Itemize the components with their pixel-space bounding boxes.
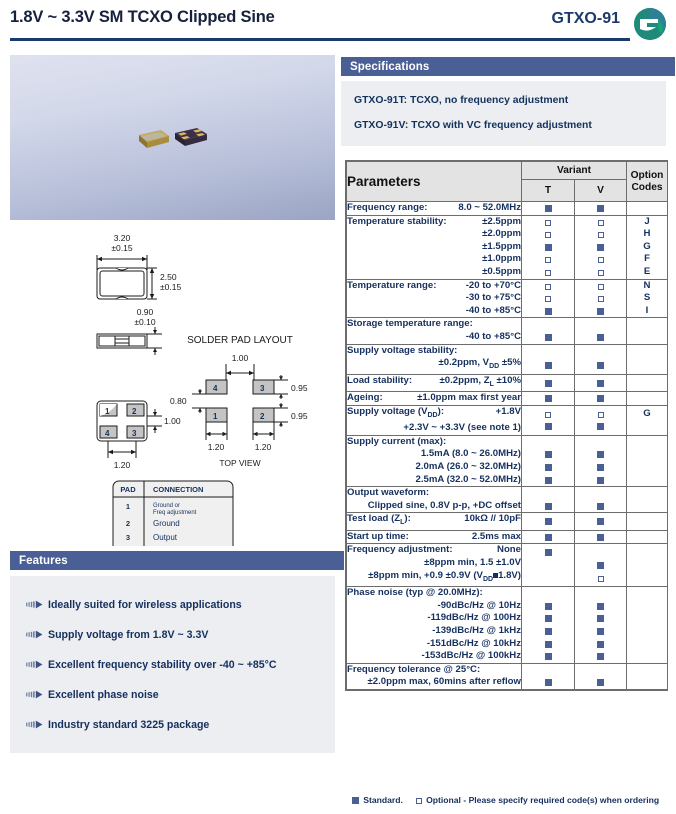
param-label: Frequency adjustment: — [347, 544, 453, 557]
marker-v-open — [598, 257, 604, 263]
marker-t-filled — [545, 464, 552, 471]
param-cell: Temperature stability:±2.5ppm±2.0ppm±1.5… — [347, 215, 522, 279]
solder-pin-1: 1 — [213, 412, 218, 421]
option-code — [627, 202, 667, 215]
param-label: Frequency tolerance @ 25°C: — [347, 664, 521, 677]
marker-v-filled — [597, 653, 604, 660]
param-cell: Storage temperature range:-40 to +85°C — [347, 318, 522, 344]
variant-v-cell — [575, 279, 627, 318]
option-code — [627, 377, 667, 390]
variant-v-marker — [575, 408, 626, 421]
param-cell: Supply voltage stability:±0.2ppm, VDD ±5… — [347, 344, 522, 374]
marker-v-filled — [597, 380, 604, 387]
variant-v-cell — [575, 530, 627, 544]
variant-v-cell — [575, 318, 627, 344]
marker-v-open — [598, 232, 604, 238]
table-row: Frequency adjustment:None±8ppm min, 1.5 … — [347, 544, 668, 587]
option-code-cell: NSI — [627, 279, 668, 318]
variant-v-marker — [575, 266, 626, 279]
solder-span-left-label: 1.20 — [208, 442, 225, 452]
variant-t-cell — [522, 344, 575, 374]
variant-t-cell — [522, 279, 575, 318]
pad-row-conn-3: Output — [153, 533, 178, 542]
pad-table-header-connection: CONNECTION — [153, 485, 203, 494]
variant-v-marker — [575, 420, 626, 433]
solder-pad-w-label: 0.80 — [170, 396, 187, 406]
marker-v-open — [598, 270, 604, 276]
param-cell: Output waveform:Clipped sine, 0.8V p-p, … — [347, 487, 522, 513]
variant-v-cell — [575, 215, 627, 279]
marker-t-open — [545, 412, 551, 418]
option-code-cell: JHGFE — [627, 215, 668, 279]
param-cell: Frequency range:8.0 ~ 52.0MHz — [347, 202, 522, 216]
legend-standard-text: Standard. — [363, 795, 403, 805]
variant-v-cell — [575, 392, 627, 406]
variant-v-marker — [575, 216, 626, 229]
feature-text: Excellent frequency stability over -40 ~… — [48, 659, 277, 671]
param-line: None — [487, 544, 521, 557]
marker-t-filled — [545, 628, 552, 635]
marker-v-filled — [597, 477, 604, 484]
variant-t-marker — [522, 331, 574, 344]
pad-row-conn-1a: Ground or — [153, 503, 180, 509]
marker-v-filled — [597, 562, 604, 569]
variant-t-cell — [522, 215, 575, 279]
option-code: N — [627, 280, 667, 293]
variant-t-marker — [522, 500, 574, 513]
variant-v-cell — [575, 344, 627, 374]
variant-t-marker — [522, 392, 574, 405]
param-line: ±0.5ppm — [347, 266, 521, 279]
variant-v-marker — [575, 228, 626, 241]
marker-t-filled — [545, 641, 552, 648]
marker-t-filled — [545, 603, 552, 610]
variant-t-cell — [522, 392, 575, 406]
variant-t-marker — [522, 638, 574, 651]
param-line: +1.8V — [486, 406, 521, 419]
col-header-variant: Variant — [522, 162, 627, 180]
variant-t-cell — [522, 513, 575, 531]
param-label: Test load (ZL): — [347, 513, 411, 530]
variant-v-cell — [575, 587, 627, 664]
marker-v-filled — [597, 503, 604, 510]
option-code — [627, 600, 667, 613]
variant-v-cell — [575, 435, 627, 486]
variant-v-marker — [575, 612, 626, 625]
col-header-parameters: Parameters — [347, 162, 522, 202]
table-footnote: Standard. Optional - Please specify requ… — [345, 795, 666, 805]
top-view-label: TOP VIEW — [219, 458, 260, 468]
variant-v-marker — [575, 559, 626, 572]
option-code-cell — [627, 487, 668, 513]
param-label: Storage temperature range: — [347, 318, 521, 331]
variant-v-marker — [575, 515, 626, 528]
dim-width-tol-label: ±0.15 — [111, 243, 132, 253]
variant-v-marker — [575, 280, 626, 293]
feature-item: Supply voltage from 1.8V ~ 3.3V — [10, 620, 335, 650]
param-line: ±8ppm min, 1.5 ±1.0V — [347, 557, 521, 570]
product-photo — [10, 55, 335, 220]
variant-v-marker — [575, 531, 626, 544]
option-code: J — [627, 216, 667, 229]
marker-t-open — [545, 232, 551, 238]
param-label: Supply voltage stability: — [347, 345, 521, 358]
param-cell: Supply voltage (VDD):+1.8V+2.3V ~ +3.3V … — [347, 405, 522, 435]
param-line: ±8ppm min, +0.9 ±0.9V (VDD1.8V) — [347, 570, 521, 587]
option-code — [627, 420, 667, 433]
marker-v-filled — [597, 423, 604, 430]
variant-t-cell — [522, 663, 575, 689]
option-code — [627, 625, 667, 638]
variant-t-cell — [522, 487, 575, 513]
variant-v-marker — [575, 448, 626, 461]
variant-t-marker — [522, 253, 574, 266]
variant-t-marker — [522, 280, 574, 293]
variant-t-marker — [522, 461, 574, 474]
option-code-cell — [627, 344, 668, 374]
param-line: -139dBc/Hz @ 1kHz — [347, 625, 521, 638]
param-label: Temperature range: — [347, 280, 436, 293]
option-code — [627, 638, 667, 651]
variant-t-marker — [522, 266, 574, 279]
param-cell: Temperature range:-20 to +70°C-30 to +75… — [347, 279, 522, 318]
param-label: Load stability: — [347, 375, 412, 388]
option-code: E — [627, 266, 667, 279]
param-line: +2.3V ~ +3.3V (see note 1) — [347, 422, 521, 435]
table-row: Ageing:±1.0ppm max first year — [347, 392, 668, 406]
variant-t-cell — [522, 202, 575, 216]
pad-table-header-pad: PAD — [120, 485, 136, 494]
page-title: 1.8V ~ 3.3V SM TCXO Clipped Sine — [10, 8, 275, 27]
option-code: S — [627, 292, 667, 305]
bottom-pin-1: 1 — [105, 407, 110, 416]
marker-v-open — [598, 576, 604, 582]
arrow-bullet-icon — [26, 716, 48, 734]
variant-t-cell — [522, 318, 575, 344]
marker-v-filled — [597, 628, 604, 635]
option-code: F — [627, 253, 667, 266]
arrow-bullet-icon — [26, 686, 48, 704]
marker-v-filled — [597, 334, 604, 341]
page-header: 1.8V ~ 3.3V SM TCXO Clipped Sine GTXO-91 — [10, 8, 666, 42]
features-list: Ideally suited for wireless applications… — [10, 590, 335, 740]
marker-t-filled — [545, 503, 552, 510]
variant-v-marker — [575, 331, 626, 344]
table-row: Supply voltage (VDD):+1.8V+2.3V ~ +3.3V … — [347, 405, 668, 435]
option-code — [627, 515, 667, 528]
option-code — [627, 461, 667, 474]
marker-t-filled — [545, 615, 552, 622]
marker-t-filled — [545, 205, 552, 212]
marker-t-filled — [545, 534, 552, 541]
dim-width-label: 3.20 — [114, 233, 131, 243]
option-code — [627, 331, 667, 344]
variant-v-marker — [575, 500, 626, 513]
table-row: Temperature range:-20 to +70°C-30 to +75… — [347, 279, 668, 318]
variant-t-marker — [522, 216, 574, 229]
feature-text: Supply voltage from 1.8V ~ 3.3V — [48, 629, 208, 641]
param-label: Output waveform: — [347, 487, 521, 500]
legend-filled-square-icon — [352, 797, 359, 804]
option-code — [627, 572, 667, 585]
variant-v-marker — [575, 202, 626, 215]
param-cell: Test load (ZL):10kΩ // 10pF — [347, 513, 522, 531]
marker-t-filled — [545, 380, 552, 387]
marker-t-filled — [545, 244, 552, 251]
param-value: ±1.0ppm max first year — [407, 392, 521, 405]
option-code-cell — [627, 513, 668, 531]
param-value: 8.0 ~ 52.0MHz — [448, 202, 521, 215]
variant-v-cell — [575, 202, 627, 216]
solder-pad-h-label-bottom: 0.95 — [291, 411, 308, 421]
option-code-cell — [627, 202, 668, 216]
variant-v-marker — [575, 292, 626, 305]
features-section-header: Features — [10, 551, 344, 570]
company-logo-icon — [634, 8, 666, 40]
marker-v-filled — [597, 615, 604, 622]
pad-row-conn-2: Ground — [153, 519, 180, 528]
spec-note-1: GTXO-91V: TCXO with VC frequency adjustm… — [354, 120, 592, 131]
marker-v-open — [598, 296, 604, 302]
param-line: ±2.0ppm — [347, 228, 521, 241]
marker-t-open — [545, 296, 551, 302]
param-line: ±0.2ppm, VDD ±5% — [347, 357, 521, 374]
param-label: Phase noise (typ @ 20.0MHz): — [347, 587, 521, 600]
marker-v-filled — [597, 244, 604, 251]
variant-v-marker — [575, 572, 626, 585]
feature-item: Industry standard 3225 package — [10, 710, 335, 740]
option-code-cell — [627, 318, 668, 344]
param-line: 2.5mA (32.0 ~ 52.0MHz) — [347, 474, 521, 487]
col-header-codes: Codes — [627, 182, 667, 194]
param-line: 1.5mA (8.0 ~ 26.0MHz) — [347, 448, 521, 461]
table-row: Supply voltage stability:±0.2ppm, VDD ±5… — [347, 344, 668, 374]
solder-span-right-label: 1.20 — [255, 442, 272, 452]
param-label: Frequency range: — [347, 202, 428, 215]
param-label: Temperature stability: — [347, 216, 447, 229]
param-label: Supply current (max): — [347, 436, 521, 449]
marker-v-filled — [597, 534, 604, 541]
variant-v-cell — [575, 374, 627, 392]
variant-t-cell — [522, 587, 575, 664]
param-cell: Ageing:±1.0ppm max first year — [347, 392, 522, 406]
feature-item: Ideally suited for wireless applications — [10, 590, 335, 620]
param-line: -151dBc/Hz @ 10kHz — [347, 638, 521, 651]
param-line: Clipped sine, 0.8V p-p, +DC offset — [347, 500, 521, 513]
dim-height-label: 2.50 — [160, 272, 177, 282]
arrow-bullet-icon — [26, 656, 48, 674]
option-code: I — [627, 305, 667, 318]
marker-v-filled — [597, 362, 604, 369]
option-code-cell — [627, 392, 668, 406]
variant-v-marker — [575, 676, 626, 689]
variant-t-cell — [522, 405, 575, 435]
marker-v-filled — [597, 308, 604, 315]
legend-optional-text: Optional - Please specify required code(… — [426, 795, 659, 805]
param-line: -20 to +70°C — [456, 280, 521, 293]
solder-pin-3: 3 — [260, 384, 265, 393]
option-code — [627, 676, 667, 689]
solder-pad-h-label-top: 0.95 — [291, 383, 308, 393]
variant-v-marker — [575, 625, 626, 638]
marker-t-open — [545, 257, 551, 263]
param-cell: Phase noise (typ @ 20.0MHz):-90dBc/Hz @ … — [347, 587, 522, 664]
col-header-variant-v: V — [575, 180, 627, 202]
marker-t-filled — [545, 679, 552, 686]
variant-t-marker — [522, 241, 574, 254]
option-code-cell — [627, 530, 668, 544]
dim-thickness-label: 0.90 — [137, 307, 154, 317]
variant-v-marker — [575, 253, 626, 266]
variant-t-marker — [522, 292, 574, 305]
option-code — [627, 559, 667, 572]
param-label: Ageing: — [347, 392, 383, 405]
option-code-cell — [627, 544, 668, 587]
datasheet-page: 1.8V ~ 3.3V SM TCXO Clipped Sine GTXO-91 — [0, 0, 676, 814]
pad-row-num-3: 3 — [126, 533, 130, 542]
param-line: -153dBc/Hz @ 100kHz — [347, 650, 521, 663]
variant-t-marker — [522, 625, 574, 638]
variant-v-cell — [575, 544, 627, 587]
option-code — [627, 359, 667, 372]
option-code-cell — [627, 587, 668, 664]
table-row: Start up time:2.5ms max — [347, 530, 668, 544]
bottom-pitch-v-label: 1.00 — [164, 416, 181, 426]
feature-text: Ideally suited for wireless applications — [48, 599, 242, 611]
option-code: H — [627, 228, 667, 241]
marker-t-filled — [545, 308, 552, 315]
param-line: ±1.0ppm — [347, 253, 521, 266]
legend-open-square-icon — [416, 798, 422, 804]
solder-gap-label: 1.00 — [232, 353, 249, 363]
param-line: ±2.0ppm max, 60mins after reflow — [347, 676, 521, 689]
dim-height-tol-label: ±0.15 — [160, 282, 181, 292]
marker-t-filled — [545, 395, 552, 402]
table-row: Temperature stability:±2.5ppm±2.0ppm±1.5… — [347, 215, 668, 279]
param-line: 2.0mA (26.0 ~ 32.0MHz) — [347, 461, 521, 474]
option-code — [627, 500, 667, 513]
option-code-cell: G — [627, 405, 668, 435]
table-row: Phase noise (typ @ 20.0MHz):-90dBc/Hz @ … — [347, 587, 668, 664]
marker-t-filled — [545, 334, 552, 341]
param-line: -119dBc/Hz @ 100Hz — [347, 612, 521, 625]
marker-t-filled — [545, 477, 552, 484]
variant-v-cell — [575, 663, 627, 689]
param-cell: Start up time:2.5ms max — [347, 530, 522, 544]
pad-row-conn-1b: Freq adjustment — [153, 510, 197, 516]
pad-row-num-2: 2 — [126, 519, 130, 528]
param-label: Supply voltage (VDD): — [347, 406, 444, 423]
param-value: 10kΩ // 10pF — [454, 513, 521, 526]
variant-t-cell — [522, 544, 575, 587]
option-code — [627, 546, 667, 559]
variant-v-marker — [575, 392, 626, 405]
solder-pad-title: SOLDER PAD LAYOUT — [187, 335, 293, 346]
marker-v-filled — [597, 679, 604, 686]
variant-v-marker — [575, 638, 626, 651]
variant-v-cell — [575, 487, 627, 513]
specifications-note-panel: GTXO-91T: TCXO, no frequency adjustment … — [341, 81, 666, 146]
option-code — [627, 531, 667, 544]
table-row: Supply current (max):1.5mA (8.0 ~ 26.0MH… — [347, 435, 668, 486]
marker-t-filled — [545, 423, 552, 430]
param-line: -40 to +85°C — [347, 305, 521, 318]
bottom-pin-2: 2 — [132, 407, 137, 416]
param-value: ±0.2ppm, ZL ±10% — [430, 375, 521, 392]
solder-pin-4: 4 — [213, 384, 218, 393]
solder-pin-2: 2 — [260, 412, 265, 421]
features-panel: Ideally suited for wireless applications… — [10, 576, 335, 753]
marker-v-filled — [597, 641, 604, 648]
variant-t-cell — [522, 374, 575, 392]
pad-row-num-1: 1 — [126, 502, 130, 511]
table-row: Frequency tolerance @ 25°C:±2.0ppm max, … — [347, 663, 668, 689]
parameters-table-body: Frequency range:8.0 ~ 52.0MHz Temperatur… — [347, 202, 668, 690]
marker-t-filled — [545, 518, 552, 525]
feature-text: Industry standard 3225 package — [48, 719, 209, 731]
option-code — [627, 612, 667, 625]
option-code: G — [627, 408, 667, 421]
marker-t-filled — [545, 362, 552, 369]
marker-v-filled — [597, 451, 604, 458]
spec-note-0: GTXO-91T: TCXO, no frequency adjustment — [354, 95, 568, 106]
variant-t-marker — [522, 420, 574, 433]
option-code — [627, 650, 667, 663]
header-divider — [10, 38, 630, 41]
feature-text: Excellent phase noise — [48, 689, 159, 701]
param-label: Start up time: — [347, 531, 409, 544]
variant-v-marker — [575, 359, 626, 372]
variant-v-marker — [575, 600, 626, 613]
param-line: -30 to +75°C — [347, 292, 521, 305]
variant-t-cell — [522, 435, 575, 486]
marker-v-filled — [597, 395, 604, 402]
marker-v-filled — [597, 603, 604, 610]
table-row: Output waveform:Clipped sine, 0.8V p-p, … — [347, 487, 668, 513]
variant-t-marker — [522, 408, 574, 421]
option-code-cell — [627, 374, 668, 392]
variant-t-marker — [522, 531, 574, 544]
variant-t-marker — [522, 202, 574, 215]
marker-t-filled — [545, 451, 552, 458]
feature-item: Excellent frequency stability over -40 ~… — [10, 650, 335, 680]
dim-thickness-tol-label: ±0.10 — [134, 317, 155, 327]
variant-t-marker — [522, 377, 574, 390]
marker-v-filled — [597, 205, 604, 212]
parameters-table: Parameters Variant Option Codes T V Freq… — [345, 160, 668, 691]
option-code-cell — [627, 435, 668, 486]
marker-v-open — [598, 412, 604, 418]
marker-v-filled — [597, 464, 604, 471]
arrow-bullet-icon — [26, 626, 48, 644]
specifications-section-header: Specifications — [341, 57, 675, 76]
mechanical-drawing: 3.20 ±0.15 2.50 ±0.15 0.90 — [10, 228, 335, 546]
option-code — [627, 392, 667, 405]
marker-t-filled — [545, 653, 552, 660]
option-code — [627, 448, 667, 461]
bottom-pin-3: 3 — [132, 429, 137, 438]
bottom-pin-4: 4 — [105, 429, 110, 438]
variant-t-marker — [522, 572, 574, 585]
variant-t-marker — [522, 600, 574, 613]
param-line: -40 to +85°C — [347, 331, 521, 344]
variant-t-marker — [522, 228, 574, 241]
marker-v-open — [598, 220, 604, 226]
part-number: GTXO-91 — [552, 10, 620, 28]
marker-v-open — [598, 284, 604, 290]
col-header-option: Option — [627, 170, 667, 182]
variant-v-marker — [575, 461, 626, 474]
